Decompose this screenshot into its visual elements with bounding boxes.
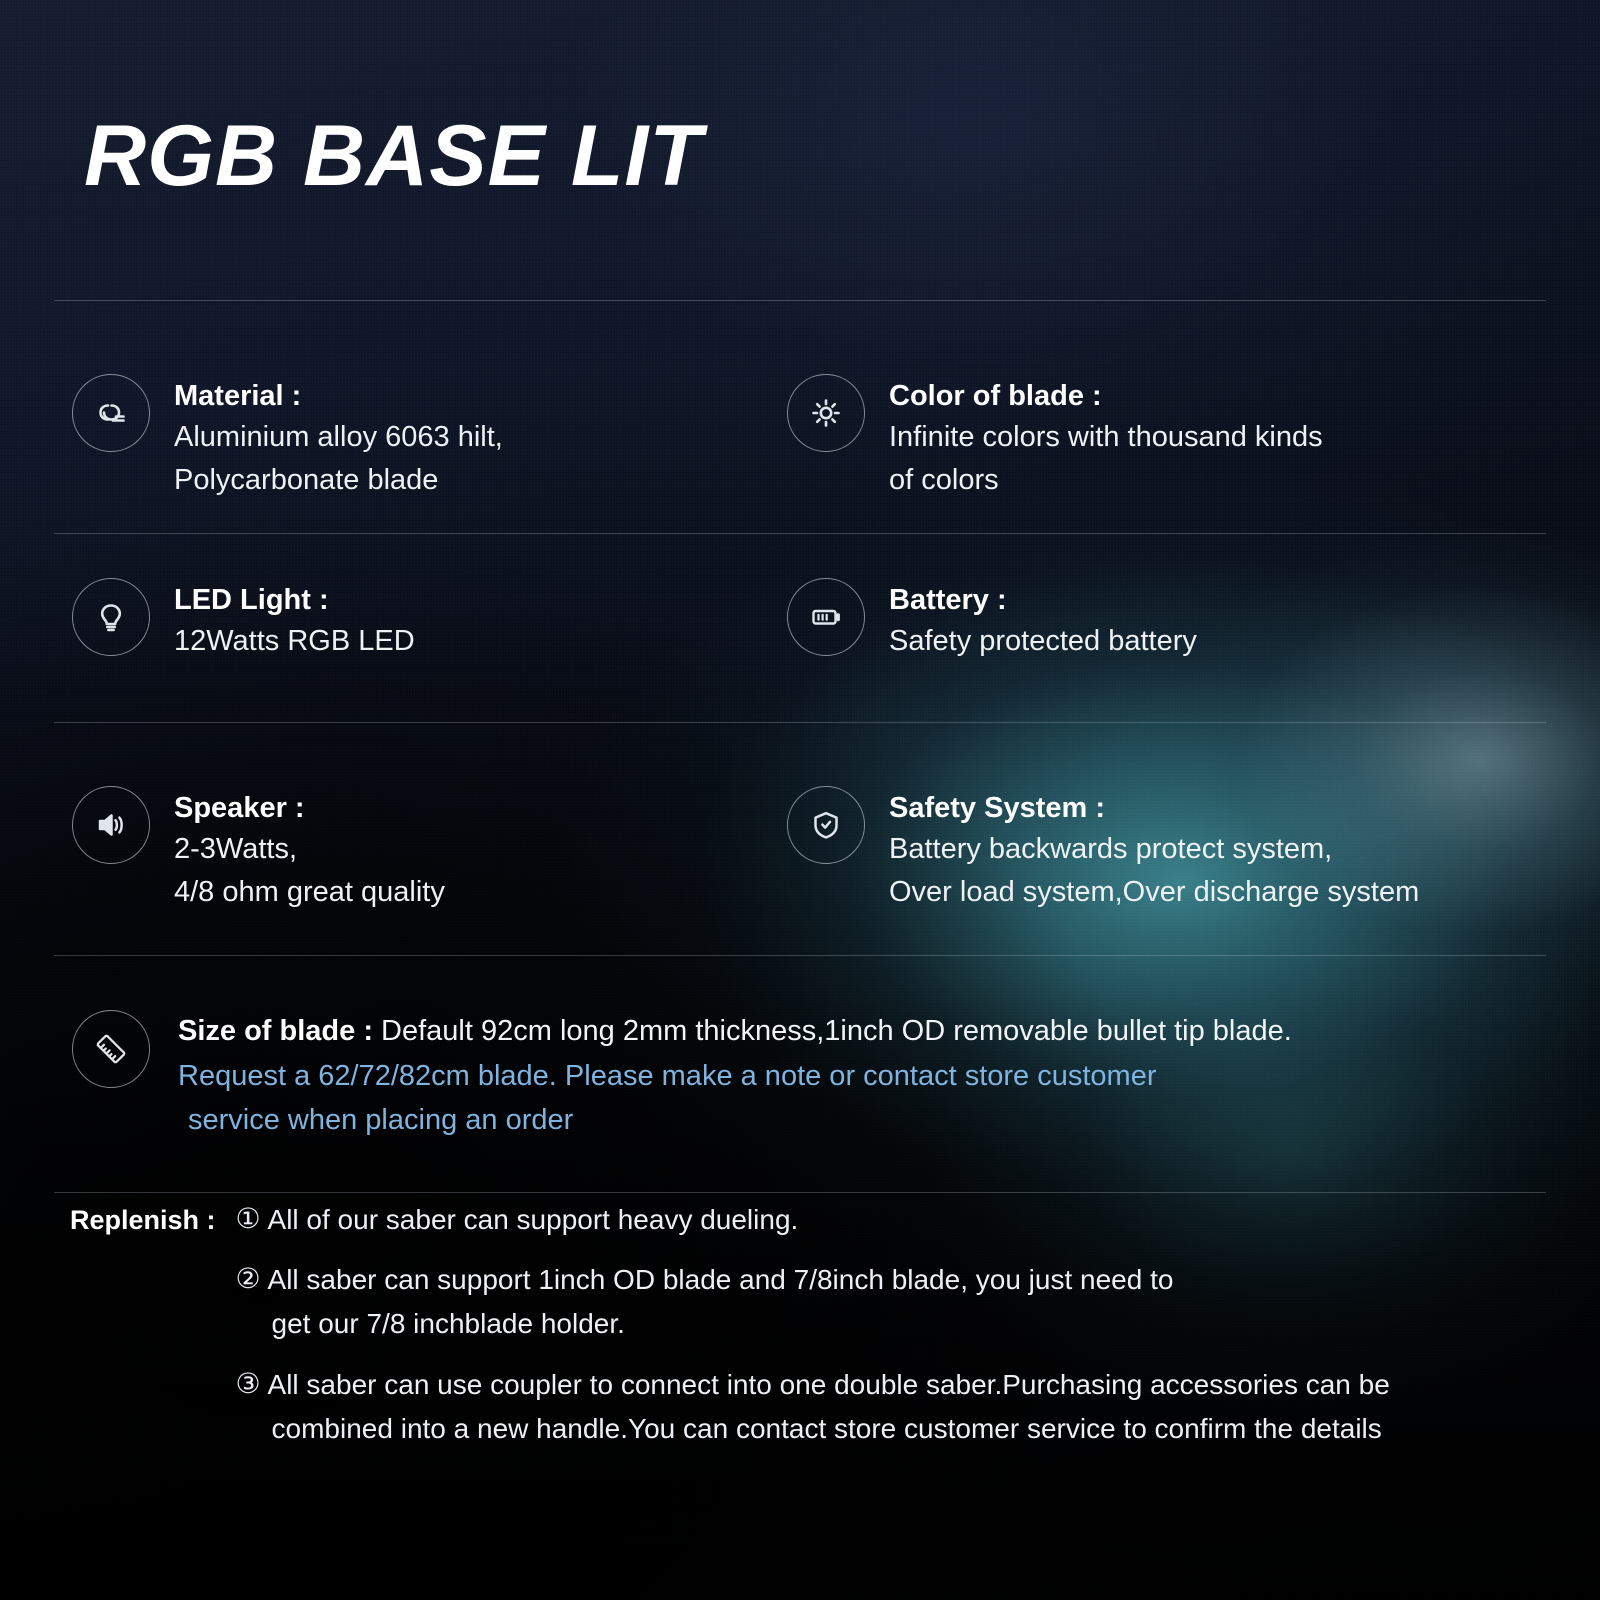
spec-title: Color of blade : — [889, 376, 1323, 416]
spec-item-led-light: LED Light : 12Watts RGB LED — [72, 578, 415, 663]
spec-item-material: Material : Aluminium alloy 6063 hilt, Po… — [72, 374, 503, 502]
replenish-label: Replenish : — [70, 1198, 216, 1241]
spec-line: 12Watts RGB LED — [174, 620, 415, 663]
product-spec-infographic: RGB BASE LIT Material : Aluminium alloy … — [0, 0, 1600, 1600]
list-item-number: ① — [236, 1198, 268, 1240]
spec-text-color-of-blade: Color of blade : Infinite colors with th… — [889, 374, 1323, 502]
list-item: ③ All saber can use coupler to connect i… — [236, 1363, 1560, 1451]
replenish-row: Replenish : ① All of our saber can suppo… — [70, 1198, 1560, 1467]
list-item-line: combined into a new handle.You can conta… — [268, 1407, 1560, 1451]
list-item-body: All saber can use coupler to connect int… — [268, 1363, 1560, 1451]
spec-line: Infinite colors with thousand kinds — [889, 416, 1323, 459]
spec-text-led-light: LED Light : 12Watts RGB LED — [174, 578, 415, 663]
list-item-line: All of our saber can support heavy dueli… — [268, 1198, 1560, 1242]
brightness-sun-icon — [787, 374, 865, 452]
size-of-blade-label: Size of blade : — [178, 1015, 373, 1047]
list-item: ① All of our saber can support heavy due… — [236, 1198, 1560, 1242]
spec-item-speaker: Speaker : 2-3Watts, 4/8 ohm great qualit… — [72, 786, 445, 914]
lightbulb-icon — [72, 578, 150, 656]
spec-line: Over load system,Over discharge system — [889, 871, 1419, 914]
list-item-number: ② — [236, 1258, 268, 1300]
replenish-items: ① All of our saber can support heavy due… — [236, 1198, 1560, 1467]
spec-item-size-of-blade: Size of blade : Default 92cm long 2mm th… — [72, 1010, 1292, 1142]
spec-title: Safety System : — [889, 788, 1419, 828]
spec-line: Battery backwards protect system, — [889, 828, 1419, 871]
spec-line: Safety protected battery — [889, 620, 1197, 663]
divider-3 — [54, 722, 1546, 723]
spec-title: Battery : — [889, 580, 1197, 620]
spec-text-safety-system: Safety System : Battery backwards protec… — [889, 786, 1419, 914]
list-item: ② All saber can support 1inch OD blade a… — [236, 1258, 1560, 1346]
divider-5 — [54, 1192, 1546, 1193]
size-of-blade-note-line-2: service when placing an order — [178, 1098, 1292, 1142]
spec-title: LED Light : — [174, 580, 415, 620]
link-chain-icon — [72, 374, 150, 452]
list-item-number: ③ — [236, 1363, 268, 1405]
list-item-body: All saber can support 1inch OD blade and… — [268, 1258, 1560, 1346]
spec-line: Aluminium alloy 6063 hilt, — [174, 416, 503, 459]
list-item-line: All saber can support 1inch OD blade and… — [268, 1258, 1560, 1302]
divider-4 — [54, 955, 1546, 956]
spec-line: of colors — [889, 459, 1323, 502]
spec-line: 4/8 ohm great quality — [174, 871, 445, 914]
size-of-blade-text: Size of blade : Default 92cm long 2mm th… — [178, 1010, 1292, 1142]
divider-1 — [54, 300, 1546, 301]
replenish-section: Replenish : ① All of our saber can suppo… — [70, 1198, 1560, 1467]
spec-text-speaker: Speaker : 2-3Watts, 4/8 ohm great qualit… — [174, 786, 445, 914]
spec-item-color-of-blade: Color of blade : Infinite colors with th… — [787, 374, 1323, 502]
page-title: RGB BASE LIT — [84, 113, 703, 199]
spec-item-safety-system: Safety System : Battery backwards protec… — [787, 786, 1419, 914]
list-item-line: All saber can use coupler to connect int… — [268, 1363, 1560, 1407]
spec-title: Material : — [174, 376, 503, 416]
shield-check-icon — [787, 786, 865, 864]
spec-line: 2-3Watts, — [174, 828, 445, 871]
divider-2 — [54, 533, 1546, 534]
spec-line: Polycarbonate blade — [174, 459, 503, 502]
size-of-blade-value: Default 92cm long 2mm thickness,1inch OD… — [381, 1015, 1292, 1047]
spec-text-battery: Battery : Safety protected battery — [889, 578, 1197, 663]
spec-title: Speaker : — [174, 788, 445, 828]
content-root: RGB BASE LIT Material : Aluminium alloy … — [0, 0, 1600, 1600]
spec-text-material: Material : Aluminium alloy 6063 hilt, Po… — [174, 374, 503, 502]
list-item-line: get our 7/8 inchblade holder. — [268, 1302, 1560, 1346]
spec-item-battery: Battery : Safety protected battery — [787, 578, 1197, 663]
list-item-body: All of our saber can support heavy dueli… — [268, 1198, 1560, 1242]
speaker-volume-icon — [72, 786, 150, 864]
battery-icon — [787, 578, 865, 656]
ruler-icon — [72, 1010, 150, 1088]
size-of-blade-note-line-1: Request a 62/72/82cm blade. Please make … — [178, 1054, 1292, 1098]
size-of-blade-main: Size of blade : Default 92cm long 2mm th… — [178, 1010, 1292, 1054]
